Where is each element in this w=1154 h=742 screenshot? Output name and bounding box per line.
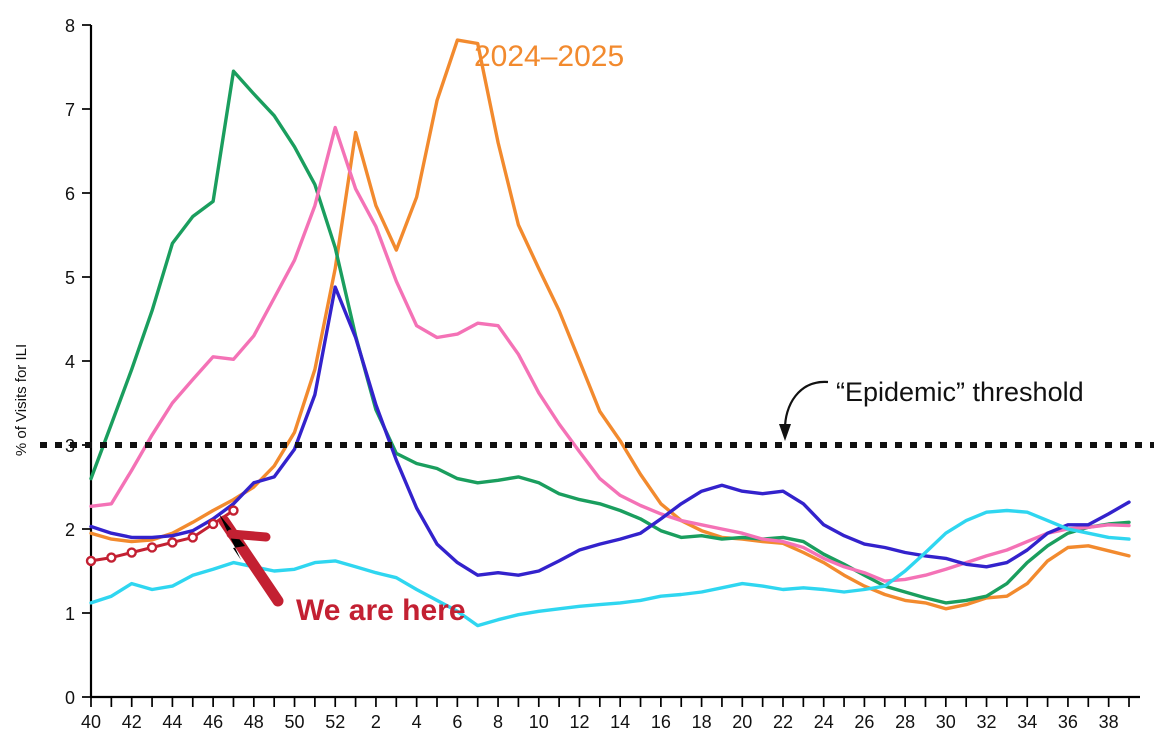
y-tick-label: 8 [65,16,75,36]
x-tick-label: 24 [814,712,834,732]
x-tick-label: 34 [1017,712,1037,732]
epidemic-threshold-arrowhead [779,424,791,441]
series-marker [107,554,115,562]
series-line-0 [91,40,1129,609]
x-tick-label: 38 [1099,712,1119,732]
x-tick-label: 6 [452,712,462,732]
series-marker [229,507,237,515]
y-tick-label: 5 [65,268,75,288]
x-tick-label: 26 [854,712,874,732]
y-tick-label: 1 [65,604,75,624]
series-marker [189,533,197,541]
x-tick-label: 50 [285,712,305,732]
annotation-2024-2025: 2024–2025 [474,40,624,73]
series-line-4 [91,511,1129,626]
chart-svg: 012345678 % of Visits for ILI 4042444648… [0,0,1154,742]
we-are-here-arrow-barb [231,534,266,537]
x-tick-label: 8 [493,712,503,732]
x-tick-label: 12 [569,712,589,732]
y-tick-label: 2 [65,520,75,540]
x-tick-label: 10 [529,712,549,732]
x-tick-label: 30 [936,712,956,732]
y-tick-label: 7 [65,100,75,120]
x-tick-label: 32 [977,712,997,732]
x-tick-label: 40 [81,712,101,732]
season-label-2024-2025: 2024–2025 [474,40,624,73]
series-marker [209,520,217,528]
x-tick-label: 44 [162,712,182,732]
x-tick-label: 28 [895,712,915,732]
x-tick-label: 20 [732,712,752,732]
x-tick-label: 42 [122,712,142,732]
x-tick-label: 48 [244,712,264,732]
y-tick-label: 6 [65,184,75,204]
series-marker [148,543,156,551]
x-tick-label: 2 [371,712,381,732]
series-line-1 [91,71,1129,603]
y-tick-group: 012345678 [65,16,91,708]
x-tick-label: 14 [610,712,630,732]
series-marker [87,557,95,565]
x-tick-label: 22 [773,712,793,732]
annotation-epidemic-threshold: “Epidemic” threshold [779,377,1084,441]
ili-line-chart: 012345678 % of Visits for ILI 4042444648… [0,0,1154,742]
epidemic-threshold-label: “Epidemic” threshold [836,377,1084,407]
x-tick-label: 36 [1058,712,1078,732]
x-tick-label: 16 [651,712,671,732]
y-tick-label: 4 [65,352,75,372]
y-axis-label: % of Visits for ILI [13,344,30,456]
series-marker [128,549,136,557]
x-tick-label: 52 [325,712,345,732]
epidemic-threshold-arrow [785,382,828,432]
x-tick-label: 46 [203,712,223,732]
series-marker [168,538,176,546]
x-tick-label: 18 [692,712,712,732]
we-are-here-label: We are here [296,594,466,627]
x-axis-group: 4042444648505224681012141618202224262830… [81,697,1140,732]
x-tick-group: 4042444648505224681012141618202224262830… [81,697,1129,732]
series-line-2 [91,128,1129,582]
y-axis-group: 012345678 % of Visits for ILI [13,16,91,708]
x-tick-label: 4 [412,712,422,732]
y-tick-label: 0 [65,688,75,708]
